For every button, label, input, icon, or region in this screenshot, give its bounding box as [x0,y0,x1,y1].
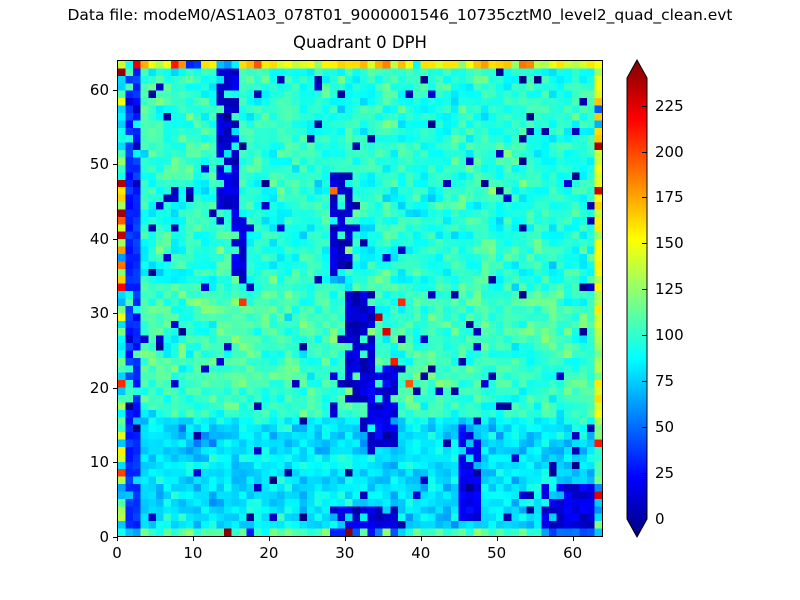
x-tick-mark [421,537,422,541]
x-tick-mark [345,537,346,541]
y-tick-label: 50 [67,155,109,173]
colorbar-tick-label: 200 [655,143,684,161]
x-tick-mark [117,537,118,541]
colorbar-tick-label: 225 [655,97,684,115]
x-tick-label: 60 [563,544,582,562]
colorbar-tick-mark [642,243,647,244]
x-tick-mark [573,537,574,541]
y-tick-mark [113,313,117,314]
y-tick-mark [113,537,117,538]
x-tick-label: 50 [487,544,506,562]
y-tick-label: 0 [67,528,109,546]
colorbar-tick-label: 100 [655,326,684,344]
data-file-suptitle: Data file: modeM0/AS1A03_078T01_90000015… [0,6,800,24]
detector-pixel-heatmap[interactable] [118,61,602,536]
colorbar-tick-mark [642,335,647,336]
colorbar-tick-label: 125 [655,280,684,298]
colorbar-tick-mark [642,473,647,474]
colorbar-tick-mark [642,427,647,428]
y-tick-label: 60 [67,81,109,99]
y-tick-mark [113,239,117,240]
x-tick-label: 20 [259,544,278,562]
y-tick-label: 40 [67,230,109,248]
y-tick-mark [113,462,117,463]
x-tick-mark [193,537,194,541]
colorbar-tick-label: 75 [655,372,674,390]
x-tick-label: 10 [183,544,202,562]
dph-heatmap-axes[interactable] [117,60,603,537]
y-tick-label: 30 [67,304,109,322]
x-tick-label: 30 [335,544,354,562]
colorbar-tick-mark [642,197,647,198]
x-tick-label: 0 [112,544,122,562]
colorbar-tick-mark [642,289,647,290]
colorbar-tick-mark [642,152,647,153]
y-tick-mark [113,388,117,389]
y-tick-label: 20 [67,379,109,397]
colorbar-tick-label: 175 [655,188,684,206]
colorbar-tick-mark [642,106,647,107]
colorbar-tick-mark [642,519,647,520]
y-tick-label: 10 [67,453,109,471]
y-tick-mark [113,164,117,165]
colorbar-tick-label: 0 [655,510,665,528]
colorbar-tick-label: 50 [655,418,674,436]
figure-canvas: Data file: modeM0/AS1A03_078T01_90000015… [0,0,800,600]
x-tick-mark [497,537,498,541]
plot-title: Quadrant 0 DPH [117,33,603,52]
colorbar-gradient [626,60,648,537]
colorbar[interactable]: 0255075100125150175200225 [626,60,648,537]
colorbar-tick-label: 150 [655,234,684,252]
colorbar-tick-label: 25 [655,464,674,482]
x-tick-label: 40 [411,544,430,562]
x-tick-mark [269,537,270,541]
colorbar-tick-mark [642,381,647,382]
y-tick-mark [113,90,117,91]
